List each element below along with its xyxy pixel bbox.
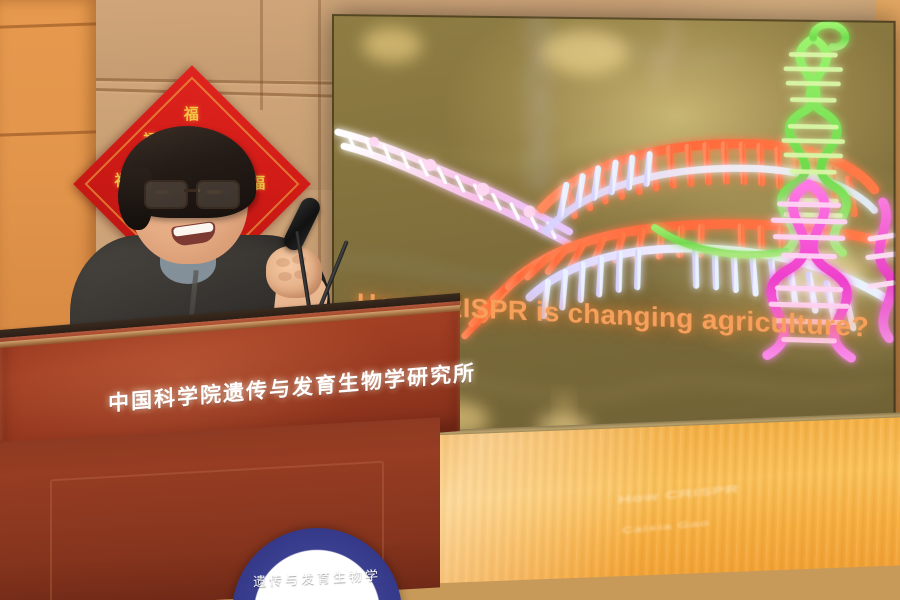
emblem-text: 遗传与发育生物学: [232, 564, 402, 592]
speaker-raised-fist: [266, 246, 322, 298]
glasses-lens-right: [196, 180, 240, 209]
wall-vertical-seam: [260, 0, 263, 110]
glasses-lens-left: [144, 180, 188, 209]
presentation-photo: How CRISPR is changing agriculture? Caix…: [0, 0, 900, 600]
glasses-icon: [144, 180, 240, 206]
